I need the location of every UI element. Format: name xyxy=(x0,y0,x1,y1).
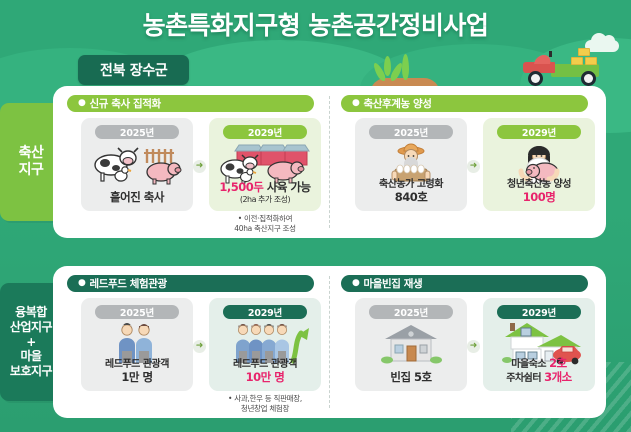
card-label: 1,500두 사육 가능 (2ha 추가 조성) xyxy=(209,181,321,205)
year-badge-after: 2029년 xyxy=(497,125,581,139)
section-title-text: 신규 축사 집적화 xyxy=(89,96,160,111)
note-line1: • 사과,한우 등 직판매장, xyxy=(228,394,302,403)
section-note: • 사과,한우 등 직판매장, 청년창업 체험장 xyxy=(200,394,330,414)
cow-pig-scattered-icon xyxy=(81,141,193,185)
section-title-pill: ● 축산후계농 양성 xyxy=(341,95,588,112)
year-badge-after: 2029년 xyxy=(497,305,581,319)
card-sublabel: (2ha 추가 조성) xyxy=(209,195,321,205)
year-badge-before: 2025년 xyxy=(369,305,453,319)
section-new-barn-clustering: ● 신규 축사 집적화 2025년 xyxy=(67,86,335,238)
infographic-poster: 농촌특화지구형 농촌공간정비사업 전북 장수군 축산지구 ● 신규 축사 집적화… xyxy=(0,0,631,432)
card-label: 축산농가 고령화 840호 xyxy=(355,179,467,205)
year-badge-after: 2029년 xyxy=(223,305,307,319)
section-title-text: 마을빈집 재생 xyxy=(363,276,422,291)
empty-house-icon xyxy=(355,321,467,365)
bullet-icon: ● xyxy=(352,99,359,108)
note-line1: • 이전·집적화하여 xyxy=(238,214,293,223)
region-tag: 전북 장수군 xyxy=(78,55,189,85)
year-badge-before: 2025년 xyxy=(369,125,453,139)
section-title-text: 레드푸드 체험관광 xyxy=(89,276,166,291)
year-badge-after: 2029년 xyxy=(223,125,307,139)
card-label: 마을숙소 2호 주차쉼터 3개소 xyxy=(483,357,595,385)
card-after: 2029년 xyxy=(209,118,321,211)
card-label: 레드푸드 관광객 1만 명 xyxy=(81,359,193,385)
plant-icon xyxy=(374,50,414,82)
progress-arrow-icon: ➜ xyxy=(193,160,206,173)
card-label: 청년축산농 양성 100명 xyxy=(483,179,595,205)
section-redfood-experience-tourism: ● 레드푸드 체험관광 2025년 xyxy=(67,266,335,418)
district-label-text: 축산지구 xyxy=(19,145,44,179)
section-village-vacant-house-regeneration: ● 마을빈집 재생 2025년 xyxy=(341,266,609,418)
bullet-icon: ● xyxy=(352,279,359,288)
section-title-pill: ● 마을빈집 재생 xyxy=(341,275,588,292)
card-after: 2029년 xyxy=(483,118,595,211)
bullet-icon: ● xyxy=(78,279,85,288)
card-before: 2025년 xyxy=(81,118,193,211)
year-badge-before: 2025년 xyxy=(95,305,179,319)
panel-livestock: ● 신규 축사 집적화 2025년 xyxy=(53,86,606,238)
card-after: 2029년 xyxy=(483,298,595,391)
note-line2: 청년창업 체험장 xyxy=(241,404,289,413)
card-label: 빈집 5호 xyxy=(355,371,467,385)
card-after: 2029년 xyxy=(209,298,321,391)
section-title-text: 축산후계농 양성 xyxy=(363,96,431,111)
progress-arrow-icon: ➜ xyxy=(467,160,480,173)
card-label: 레드푸드 관광객 10만 명 xyxy=(209,359,321,385)
bullet-icon: ● xyxy=(78,99,85,108)
section-note: • 이전·집적화하여 40ha 축산지구 조성 xyxy=(200,214,330,234)
card-label: 흩어진 축사 xyxy=(81,191,193,205)
note-line2: 40ha 축산지구 조성 xyxy=(234,224,295,233)
page-title: 농촌특화지구형 농촌공간정비사업 xyxy=(0,6,631,42)
progress-arrow-icon: ➜ xyxy=(467,340,480,353)
panel-village: ● 레드푸드 체험관광 2025년 xyxy=(53,266,606,418)
year-badge-before: 2025년 xyxy=(95,125,179,139)
card-before: 2025년 xyxy=(355,118,467,211)
section-title-pill: ● 신규 축사 집적화 xyxy=(67,95,314,112)
section-livestock-successor-training: ● 축산후계농 양성 2025년 xyxy=(341,86,609,238)
card-before: 2025년 빈집 5호 xyxy=(355,298,467,391)
card-before: 2025년 xyxy=(81,298,193,391)
cow-pig-barn-icon xyxy=(209,141,321,185)
district-label-text: 융복합산업지구+마을보호지구 xyxy=(10,305,52,378)
progress-arrow-icon: ➜ xyxy=(193,340,206,353)
tractor-icon xyxy=(523,52,607,86)
section-title-pill: ● 레드푸드 체험관광 xyxy=(67,275,314,292)
